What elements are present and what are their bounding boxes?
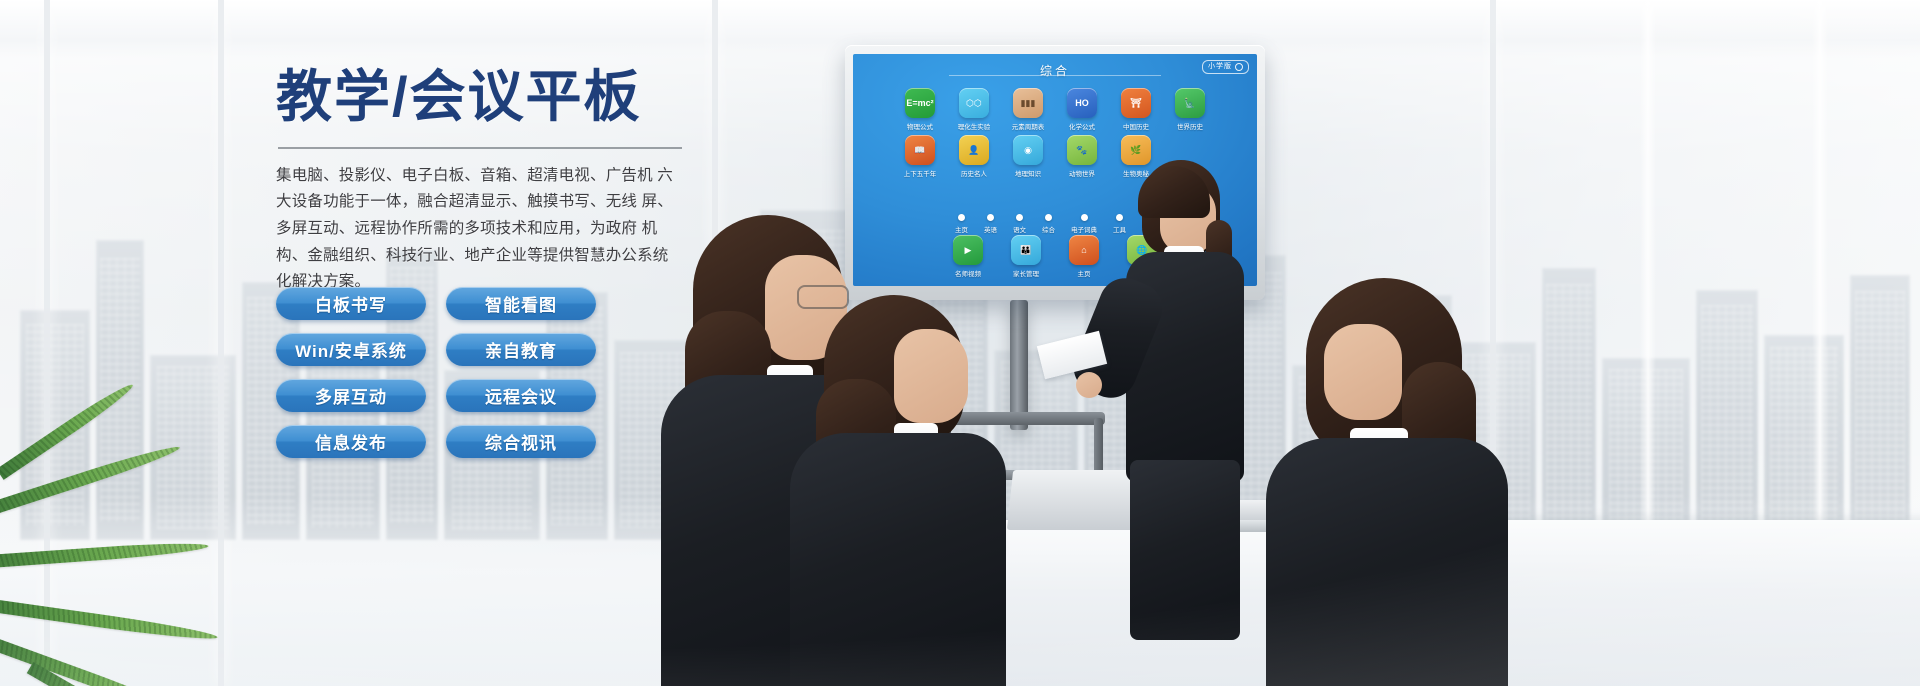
app-tile[interactable]: ▮▮▮ 元素周期表 — [1006, 88, 1050, 131]
attendee-center — [790, 295, 1010, 685]
hero-text-block: 教学/会议平板 集电脑、投影仪、电子白板、音箱、超清电视、广告机 六大设备功能于… — [276, 66, 706, 296]
title-divider — [278, 147, 682, 149]
home-icon: ⌂ — [1069, 235, 1099, 265]
app-label: 历史名人 — [961, 168, 987, 178]
panel-stand-column — [1010, 300, 1028, 430]
feature-button-info-publish[interactable]: 信息发布 — [276, 425, 426, 458]
app-label: 物理公式 — [907, 121, 933, 131]
app-tile[interactable]: ⬡⬡ 理化生实验 — [952, 88, 996, 131]
panel-stand-leg — [1094, 418, 1103, 476]
app-tile[interactable]: E=mc² 物理公式 — [898, 88, 942, 131]
animal-world-icon: 🐾 — [1067, 135, 1097, 165]
app-label: 中国历史 — [1123, 121, 1149, 131]
app-grid-row1: E=mc² 物理公式 ⬡⬡ 理化生实验 ▮▮▮ 元素周期表 HO 化学公式 — [898, 88, 1212, 131]
app-tile[interactable]: 👤 历史名人 — [952, 135, 996, 178]
hero-banner: 教学/会议平板 集电脑、投影仪、电子白板、音箱、超清电视、广告机 六大设备功能于… — [0, 0, 1920, 686]
periodic-table-icon: ▮▮▮ — [1013, 88, 1043, 118]
attendee-right — [1262, 278, 1512, 686]
hero-description: 集电脑、投影仪、电子白板、音箱、超清电视、广告机 六大设备功能于一体，融合超清显… — [276, 163, 680, 296]
app-label: 元素周期表 — [1012, 121, 1045, 131]
tab-general[interactable]: 综合 — [1042, 214, 1055, 234]
palm-plant — [0, 446, 270, 686]
tab-dictionary[interactable]: 电子词典 — [1071, 214, 1097, 234]
app-tile[interactable]: HO 化学公式 — [1060, 88, 1104, 131]
app-tile[interactable]: 👪 家长管理 — [1004, 235, 1048, 278]
version-badge-label: 小学版 — [1208, 61, 1232, 73]
version-badge[interactable]: 小学版 — [1202, 60, 1249, 74]
tab-home[interactable]: 主页 — [955, 214, 968, 234]
app-tile[interactable]: ⛩ 中国历史 — [1114, 88, 1158, 131]
presenter — [1120, 160, 1250, 580]
feature-button-os[interactable]: Win/安卓系统 — [276, 333, 426, 366]
tab-label: 电子词典 — [1071, 224, 1097, 234]
teacher-video-icon: ▶ — [953, 235, 983, 265]
physics-formula-icon: E=mc² — [905, 88, 935, 118]
geography-icon: ◉ — [1013, 135, 1043, 165]
app-label: 地理知识 — [1015, 168, 1041, 178]
feature-button-grid: 白板书写 智能看图 Win/安卓系统 亲自教育 多屏互动 远程会议 信息发布 综… — [276, 287, 606, 458]
tab-dot-icon — [958, 214, 965, 221]
tab-dot-icon — [1081, 214, 1088, 221]
feature-button-remote-meeting[interactable]: 远程会议 — [446, 379, 596, 412]
app-tile[interactable]: 🗽 世界历史 — [1168, 88, 1212, 131]
app-tile[interactable]: ▶ 名师视频 — [946, 235, 990, 278]
world-history-icon: 🗽 — [1175, 88, 1205, 118]
tab-label: 主页 — [955, 224, 968, 234]
app-tile[interactable]: ⌂ 主页 — [1062, 235, 1106, 278]
chemistry-formula-icon: HO — [1067, 88, 1097, 118]
tab-label: 综合 — [1042, 224, 1055, 234]
app-tile[interactable]: 📖 上下五千年 — [898, 135, 942, 178]
app-tile[interactable]: ◉ 地理知识 — [1006, 135, 1050, 178]
app-tile[interactable]: 🐾 动物世界 — [1060, 135, 1104, 178]
tab-chinese[interactable]: 语文 — [1013, 214, 1026, 234]
app-label: 化学公式 — [1069, 121, 1095, 131]
tab-label: 语文 — [1013, 224, 1026, 234]
feature-button-education[interactable]: 亲自教育 — [446, 333, 596, 366]
tab-dot-icon — [1016, 214, 1023, 221]
page-title: 教学/会议平板 — [276, 66, 706, 129]
app-label: 动物世界 — [1069, 168, 1095, 178]
feature-button-multiscreen[interactable]: 多屏互动 — [276, 379, 426, 412]
app-label: 理化生实验 — [958, 121, 991, 131]
historic-figures-icon: 👤 — [959, 135, 989, 165]
tab-english[interactable]: 英语 — [984, 214, 997, 234]
power-icon — [1235, 63, 1243, 71]
parent-control-icon: 👪 — [1011, 235, 1041, 265]
chinese-history-icon: ⛩ — [1121, 88, 1151, 118]
app-label: 世界历史 — [1177, 121, 1203, 131]
feature-button-whiteboard[interactable]: 白板书写 — [276, 287, 426, 320]
five-thousand-years-icon: 📖 — [905, 135, 935, 165]
app-label: 家长管理 — [1013, 268, 1039, 278]
feature-button-av-conf[interactable]: 综合视讯 — [446, 425, 596, 458]
tab-dot-icon — [987, 214, 994, 221]
tab-label: 英语 — [984, 224, 997, 234]
feature-button-smart-view[interactable]: 智能看图 — [446, 287, 596, 320]
tab-dot-icon — [1045, 214, 1052, 221]
app-label: 名师视频 — [955, 268, 981, 278]
app-label: 主页 — [1078, 268, 1091, 278]
chemistry-lab-icon: ⬡⬡ — [959, 88, 989, 118]
screen-title: 综合 — [853, 62, 1257, 79]
app-label: 上下五千年 — [904, 168, 937, 178]
